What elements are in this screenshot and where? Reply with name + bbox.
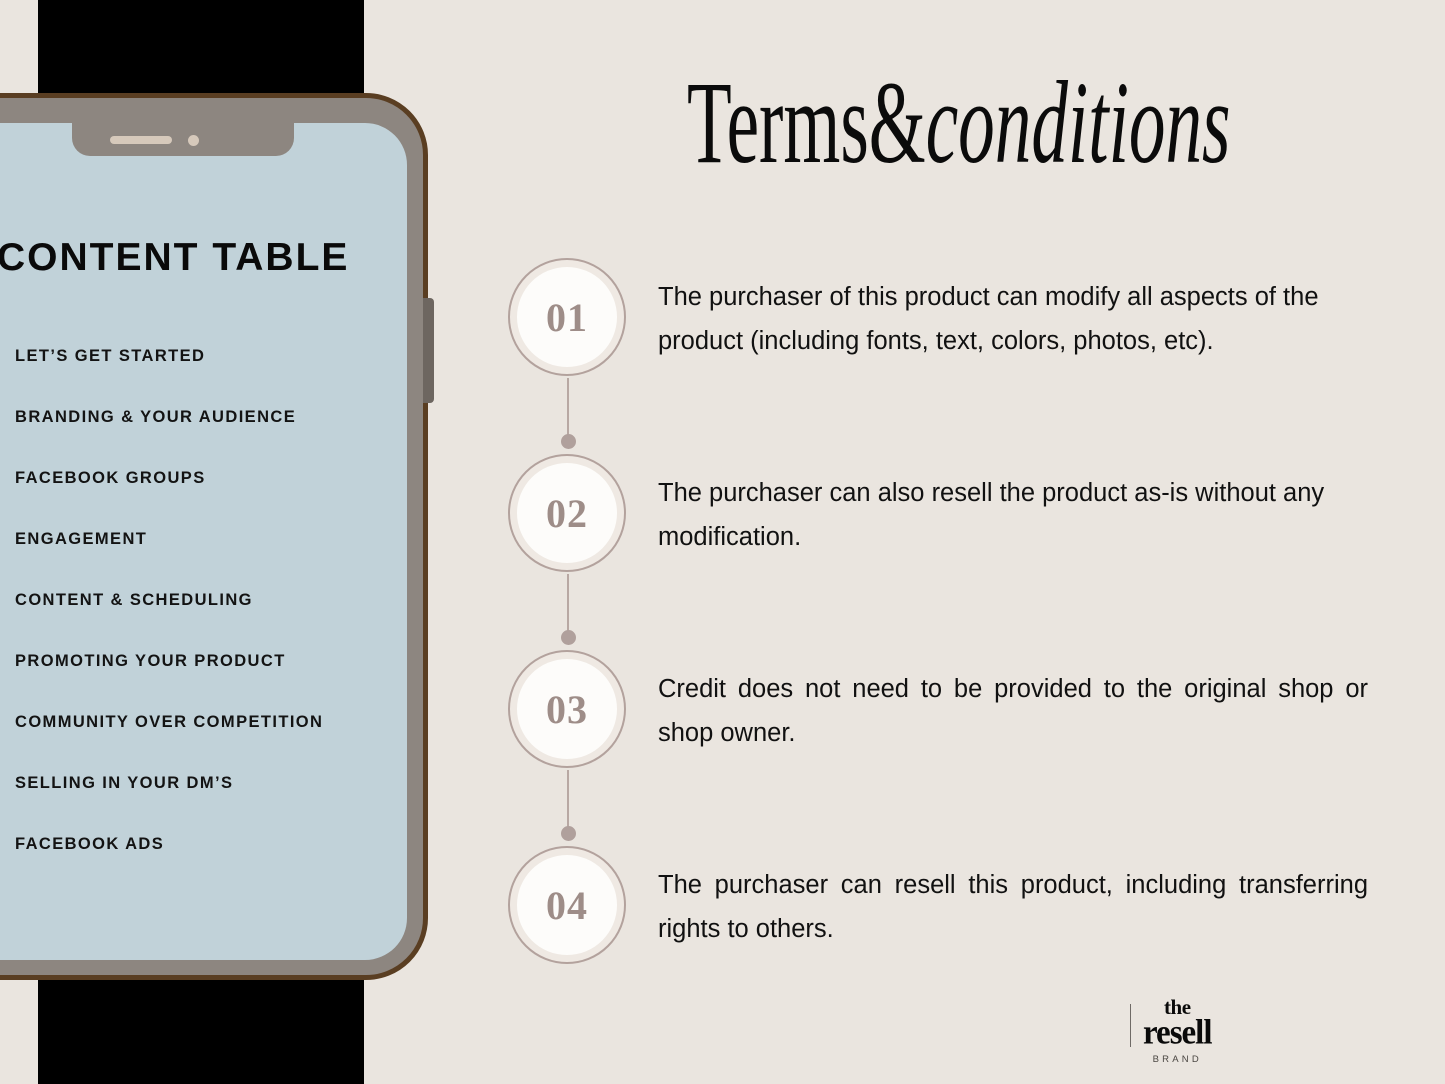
phone-notch — [72, 123, 294, 156]
black-band-top — [38, 0, 364, 100]
step-badge: 04 — [508, 846, 626, 964]
toc-item-number: 07 — [0, 702, 15, 744]
content-table-title: CONTENT TABLE — [0, 236, 407, 280]
toc-item-number: 01 — [0, 336, 15, 378]
page-title-italic: conditions — [926, 57, 1231, 188]
list-item[interactable]: 05 CONTENT & SCHEDULING — [0, 570, 407, 631]
page-title: Terms&conditions — [687, 64, 1183, 182]
toc-item-number: 05 — [0, 580, 15, 622]
step-text: The purchaser of this product can modify… — [658, 276, 1368, 364]
toc-item-number: 04 — [0, 519, 15, 561]
list-item[interactable]: 08 SELLING IN YOUR DM’S — [0, 753, 407, 814]
step-text: The purchaser can resell this product, i… — [658, 864, 1368, 952]
toc-item-number: 08 — [0, 763, 15, 805]
black-band-bottom — [38, 972, 364, 1084]
toc-item-label: LET’S GET STARTED — [15, 347, 205, 366]
logo-resell: resell — [1143, 1017, 1212, 1050]
toc-item-label: COMMUNITY OVER COMPETITION — [15, 713, 323, 732]
step-badge: 01 — [508, 258, 626, 376]
list-item[interactable]: 03 FACEBOOK GROUPS — [0, 448, 407, 509]
terms-step: 04 The purchaser can resell this product… — [430, 846, 1445, 1042]
list-item[interactable]: 09 FACEBOOK ADS — [0, 814, 407, 875]
speaker-slot-icon — [110, 136, 172, 144]
terms-panel: Terms&conditions 01 The purchaser of thi… — [430, 0, 1445, 1084]
terms-step: 03 Credit does not need to be provided t… — [430, 650, 1445, 846]
phone-screen: CONTENT TABLE 01 LET’S GET STARTED 02 BR… — [0, 123, 407, 960]
slide-canvas: CONTENT TABLE 01 LET’S GET STARTED 02 BR… — [0, 0, 1445, 1084]
step-connector-dot-icon — [561, 826, 576, 841]
front-camera-icon — [188, 135, 199, 146]
toc-item-number: 03 — [0, 458, 15, 500]
toc-item-label: SELLING IN YOUR DM’S — [15, 774, 233, 793]
step-badge: 02 — [508, 454, 626, 572]
step-connector-line — [567, 574, 569, 636]
terms-step: 01 The purchaser of this product can mod… — [430, 258, 1445, 454]
toc-item-number: 06 — [0, 641, 15, 683]
logo-wordmark: the resell BRAND — [1143, 998, 1212, 1065]
page-title-regular: Terms& — [687, 57, 926, 188]
step-text: The purchaser can also resell the produc… — [658, 472, 1368, 560]
list-item[interactable]: 02 BRANDING & YOUR AUDIENCE — [0, 387, 407, 448]
toc-item-label: FACEBOOK GROUPS — [15, 469, 206, 488]
toc-item-label: BRANDING & YOUR AUDIENCE — [15, 408, 296, 427]
list-item[interactable]: 01 LET’S GET STARTED — [0, 326, 407, 387]
step-connector-line — [567, 378, 569, 440]
step-text: Credit does not need to be provided to t… — [658, 668, 1368, 756]
step-connector-dot-icon — [561, 630, 576, 645]
toc-item-number: 02 — [0, 397, 15, 439]
toc-item-label: CONTENT & SCHEDULING — [15, 591, 253, 610]
step-number: 02 — [517, 463, 617, 563]
list-item[interactable]: 06 PROMOTING YOUR PRODUCT — [0, 631, 407, 692]
step-badge: 03 — [508, 650, 626, 768]
step-connector-dot-icon — [561, 434, 576, 449]
toc-item-label: ENGAGEMENT — [15, 530, 147, 549]
phone-mockup: CONTENT TABLE 01 LET’S GET STARTED 02 BR… — [0, 93, 428, 980]
terms-step: 02 The purchaser can also resell the pro… — [430, 454, 1445, 650]
step-number: 01 — [517, 267, 617, 367]
toc-item-number: 09 — [0, 824, 15, 866]
logo-divider — [1130, 1004, 1131, 1047]
logo-brand: BRAND — [1153, 1054, 1202, 1065]
content-table: CONTENT TABLE 01 LET’S GET STARTED 02 BR… — [0, 123, 407, 875]
terms-step-list: 01 The purchaser of this product can mod… — [430, 258, 1445, 1042]
step-number: 03 — [517, 659, 617, 759]
list-item[interactable]: 07 COMMUNITY OVER COMPETITION — [0, 692, 407, 753]
step-connector-line — [567, 770, 569, 832]
toc-item-label: PROMOTING YOUR PRODUCT — [15, 652, 286, 671]
list-item[interactable]: 04 ENGAGEMENT — [0, 509, 407, 570]
step-number: 04 — [517, 855, 617, 955]
toc-item-label: FACEBOOK ADS — [15, 835, 164, 854]
brand-logo: the resell BRAND — [1130, 998, 1212, 1065]
